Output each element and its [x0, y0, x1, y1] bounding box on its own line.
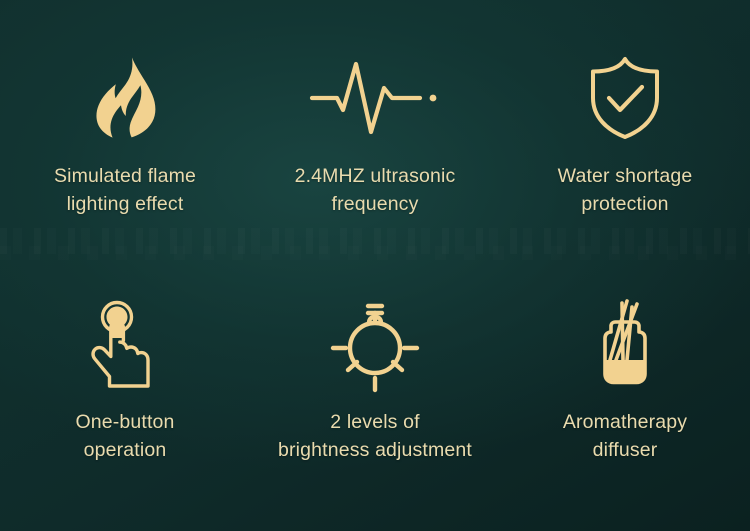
feature-caption: Simulated flame lighting effect: [54, 162, 196, 218]
feature-item-water-shortage-protection: Water shortage protection: [500, 0, 750, 266]
feature-caption: 2 levels of brightness adjustment: [278, 408, 472, 464]
feature-grid: Simulated flame lighting effect 2.4MHZ u…: [0, 0, 750, 531]
waveform-icon: [310, 52, 440, 144]
reed-diffuser-icon: [583, 299, 667, 391]
light-bulb-icon: [325, 299, 425, 391]
feature-item-one-button-operation: One-button operation: [0, 266, 250, 531]
feature-item-ultrasonic-frequency: 2.4MHZ ultrasonic frequency: [250, 0, 500, 266]
feature-item-brightness-adjustment: 2 levels of brightness adjustment: [250, 266, 500, 531]
feature-caption: Aromatherapy diffuser: [563, 408, 687, 464]
shield-check-icon: [587, 52, 663, 144]
flame-icon: [88, 52, 162, 144]
feature-item-simulated-flame: Simulated flame lighting effect: [0, 0, 250, 266]
feature-panel: Simulated flame lighting effect 2.4MHZ u…: [0, 0, 750, 531]
tap-hand-icon: [87, 299, 163, 391]
feature-caption: 2.4MHZ ultrasonic frequency: [295, 162, 456, 218]
feature-caption: One-button operation: [75, 408, 174, 464]
feature-caption: Water shortage protection: [558, 162, 693, 218]
feature-item-aromatherapy-diffuser: Aromatherapy diffuser: [500, 266, 750, 531]
